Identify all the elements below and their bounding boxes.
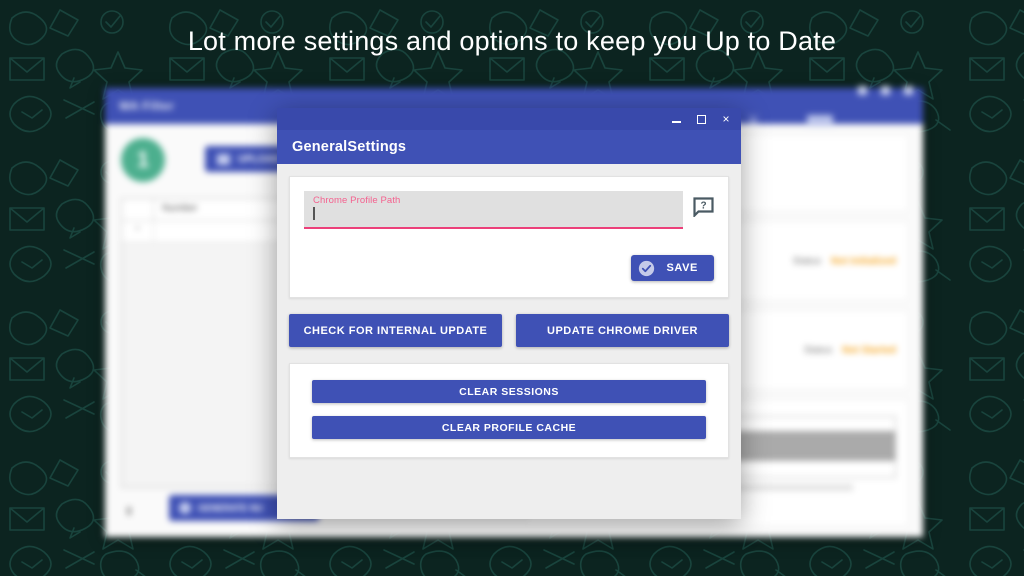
clear-profile-cache-button[interactable]: CLEAR PROFILE CACHE	[312, 416, 706, 439]
save-button[interactable]: SAVE	[631, 255, 714, 281]
chrome-profile-path-field[interactable]: Chrome Profile Path	[304, 191, 683, 229]
dialog-topbar: ×	[277, 108, 741, 130]
generate-icon	[179, 502, 191, 514]
app-logo-icon	[807, 115, 833, 126]
update-button-row: CHECK FOR INTERNAL UPDATE UPDATE CHROME …	[289, 314, 729, 347]
chrome-profile-path-value[interactable]	[313, 206, 674, 220]
upload-icon	[217, 154, 230, 165]
status-label: Status	[793, 256, 821, 267]
page-title: Lot more settings and options to keep yo…	[0, 26, 1024, 57]
dialog-body: Chrome Profile Path ?	[277, 164, 741, 458]
text-caret	[313, 207, 315, 220]
table-row-marker: *	[122, 221, 154, 242]
chrome-profile-path-label: Chrome Profile Path	[313, 195, 674, 206]
save-row: SAVE	[304, 255, 714, 281]
maximize-icon[interactable]	[695, 113, 707, 125]
dialog-titlebar: GeneralSettings	[277, 130, 741, 164]
check-circle-icon	[638, 260, 655, 277]
general-settings-dialog: × GeneralSettings Chrome Profile Path ?	[277, 108, 741, 519]
step-badge: 1	[121, 138, 165, 182]
status-badge: Not Initialized	[831, 256, 896, 267]
chrome-profile-path-input[interactable]: Chrome Profile Path	[304, 191, 683, 229]
app-scissors-icon[interactable]: ⚔	[747, 112, 759, 128]
status-badge: Not Started	[842, 345, 896, 356]
svg-text:?: ?	[700, 201, 706, 212]
save-button-label: SAVE	[666, 262, 698, 274]
check-internal-update-button[interactable]: CHECK FOR INTERNAL UPDATE	[289, 314, 502, 347]
table-header-selector	[122, 199, 154, 220]
update-chrome-driver-button[interactable]: UPDATE CHROME DRIVER	[516, 314, 729, 347]
clear-sessions-button[interactable]: CLEAR SESSIONS	[312, 380, 706, 403]
app-window-controls[interactable]	[858, 86, 913, 95]
app-title: WA Filter	[119, 99, 174, 113]
dialog-title: GeneralSettings	[292, 139, 406, 155]
app-minimize-icon[interactable]	[858, 86, 867, 95]
app-header-icons: ⚔	[747, 112, 833, 128]
close-icon[interactable]: ×	[720, 113, 732, 125]
generate-button-label: GENERATE NU	[198, 503, 263, 513]
profile-path-card: Chrome Profile Path ?	[289, 176, 729, 298]
app-maximize-icon[interactable]	[881, 86, 890, 95]
status-label: Status	[804, 345, 832, 356]
clear-actions-card: CLEAR SESSIONS CLEAR PROFILE CACHE	[289, 363, 729, 458]
minimize-icon[interactable]	[670, 113, 682, 125]
help-tooltip-icon[interactable]: ?	[693, 197, 714, 217]
table-footer-marker	[127, 507, 131, 515]
dialog-window-controls[interactable]: ×	[670, 108, 732, 130]
app-close-icon[interactable]	[904, 86, 913, 95]
upload-button-label: UPLOAD	[238, 154, 280, 165]
profile-path-row: Chrome Profile Path ?	[304, 191, 714, 229]
